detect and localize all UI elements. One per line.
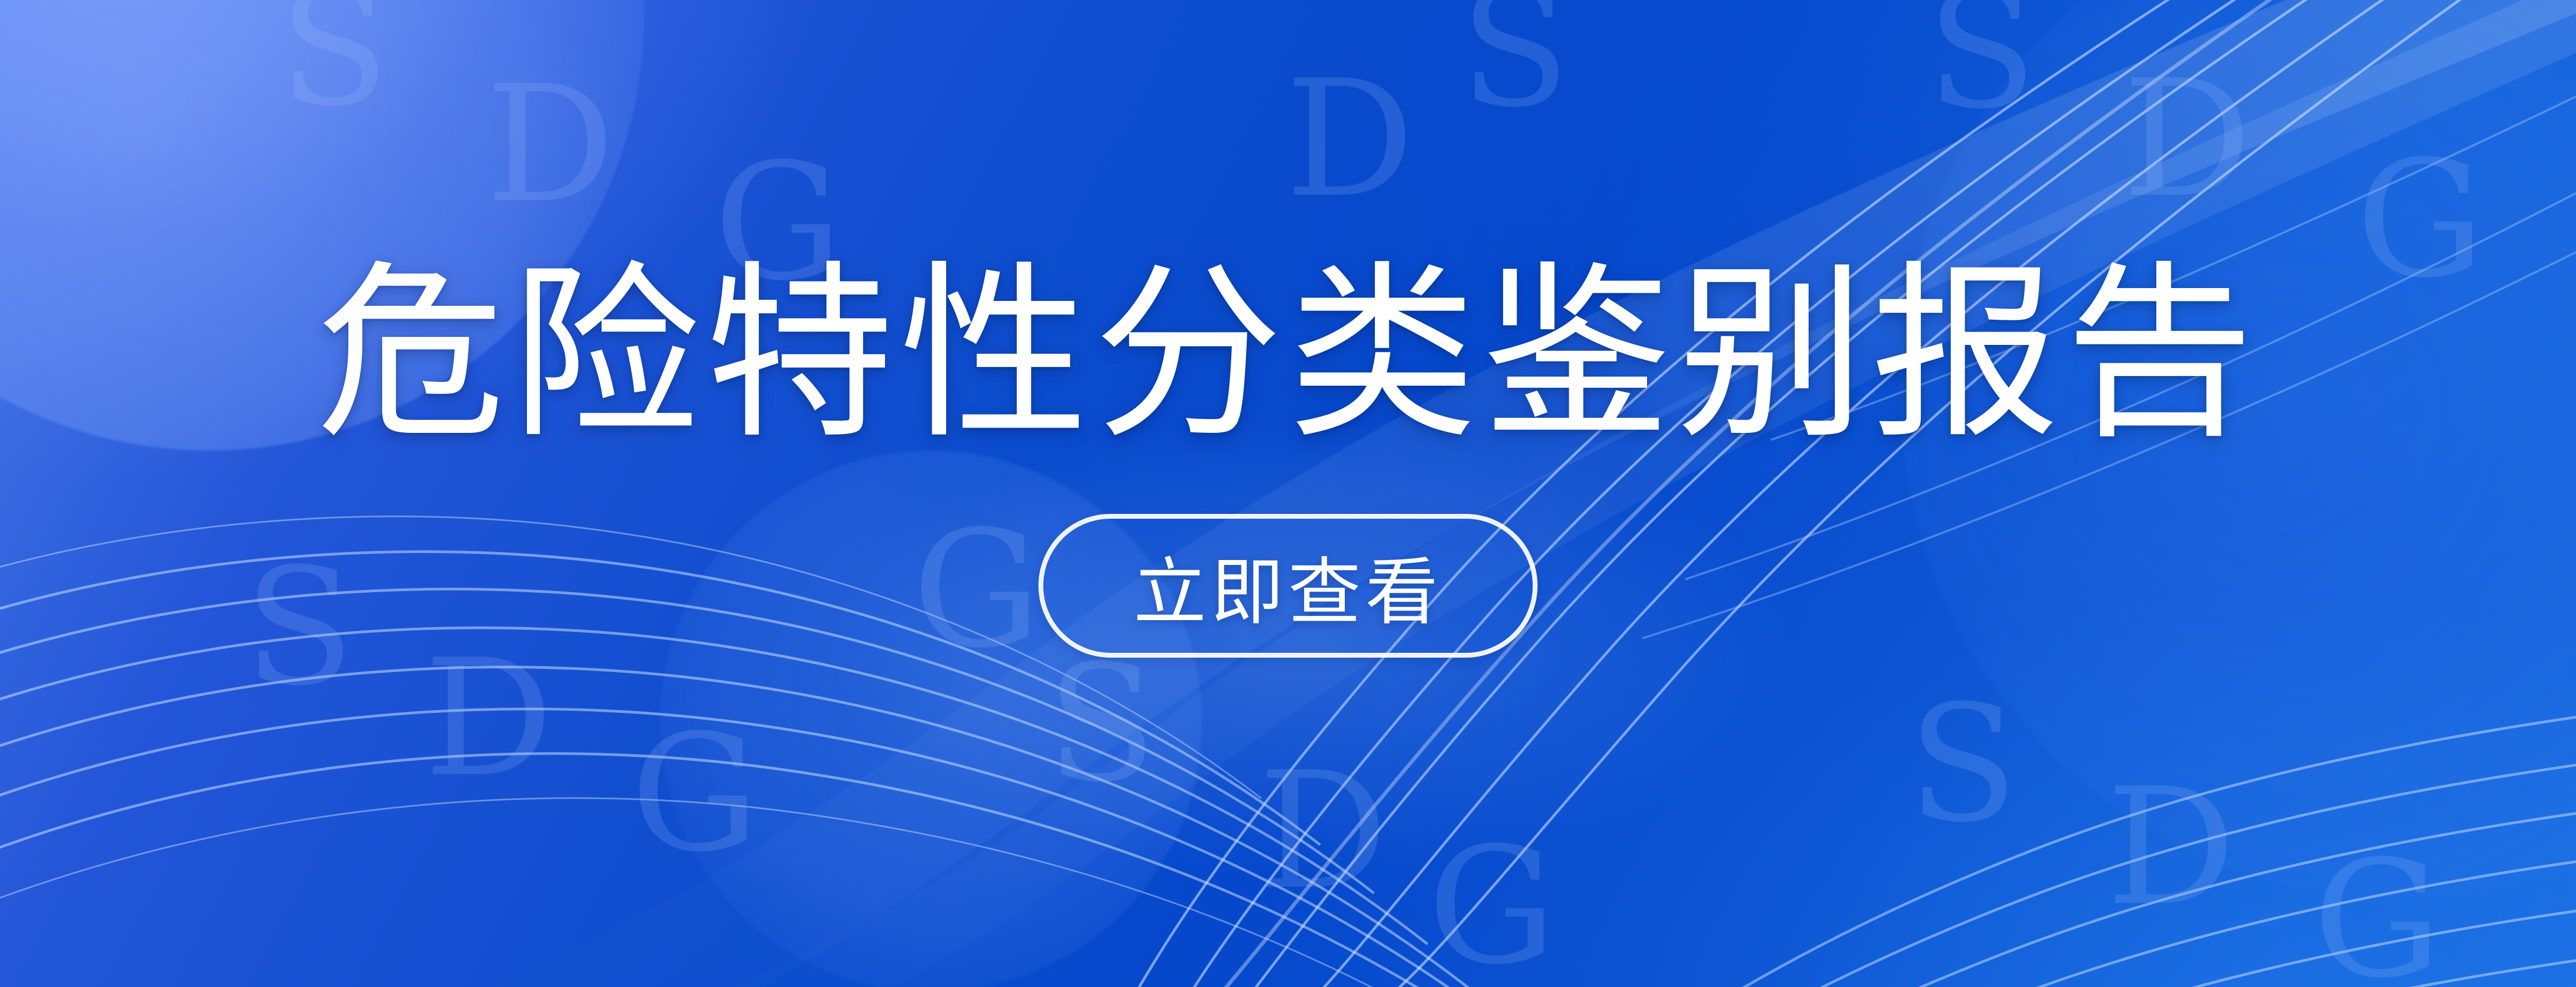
view-now-button[interactable]: 立即查看 [1038, 514, 1538, 658]
banner-content: 危险特性分类鉴别报告 立即查看 [0, 0, 2576, 987]
promo-banner: SDGSDGSDGSSDGDGSDG 危险特性分类鉴别报告 立即查看 [0, 0, 2576, 987]
view-now-button-label: 立即查看 [1133, 533, 1443, 639]
banner-title: 危险特性分类鉴别报告 [317, 252, 2259, 456]
